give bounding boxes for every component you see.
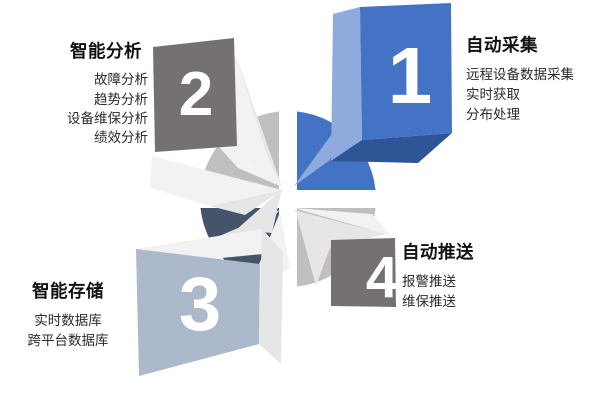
section-4-line-2: 维保推送 <box>402 292 474 312</box>
section-2-title: 智能分析 <box>0 40 148 62</box>
section-2-line-2: 趋势分析 <box>0 90 148 109</box>
section-4-title: 自动推送 <box>402 241 474 263</box>
section-3-box-right-face <box>259 229 283 364</box>
section-4-lines: 报警推送 维保推送 <box>402 272 474 311</box>
section-1-line-1: 远程设备数据采集 <box>466 65 574 85</box>
section-2-label-block: 智能分析 故障分析 趋势分析 设备维保分析 绩效分析 <box>0 40 148 147</box>
section-2-line-3: 设备维保分析 <box>0 109 148 128</box>
diagram-canvas: 2 1 3 <box>0 0 600 400</box>
section-1-line-3: 分布处理 <box>466 105 574 125</box>
section-4-line-1: 报警推送 <box>402 272 474 292</box>
section-3-title: 智能存储 <box>0 280 136 302</box>
section-3-line-1: 实时数据库 <box>0 311 136 331</box>
section-1-line-2: 实时获取 <box>466 85 574 105</box>
section-3-label-block: 智能存储 实时数据库 跨平台数据库 <box>0 280 136 351</box>
section-1-cube-left-face <box>331 7 362 161</box>
section-1-label-block: 自动采集 远程设备数据采集 实时获取 分布处理 <box>466 34 574 124</box>
section-3-line-2: 跨平台数据库 <box>0 331 136 351</box>
section-1-lines: 远程设备数据采集 实时获取 分布处理 <box>466 65 574 124</box>
section-4-label-block: 自动推送 报警推送 维保推送 <box>402 241 474 312</box>
section-2-lines: 故障分析 趋势分析 设备维保分析 绩效分析 <box>0 70 148 147</box>
section-2-number: 2 <box>179 60 213 129</box>
section-1-shape-group: 1 <box>294 3 452 186</box>
section-4-number: 4 <box>366 245 398 310</box>
section-2-line-4: 绩效分析 <box>0 128 148 147</box>
section-2-line-1: 故障分析 <box>0 70 148 89</box>
section-1-title: 自动采集 <box>466 34 574 56</box>
section-3-number: 3 <box>179 262 221 347</box>
section-3-lines: 实时数据库 跨平台数据库 <box>0 311 136 350</box>
section-1-number: 1 <box>388 31 433 120</box>
